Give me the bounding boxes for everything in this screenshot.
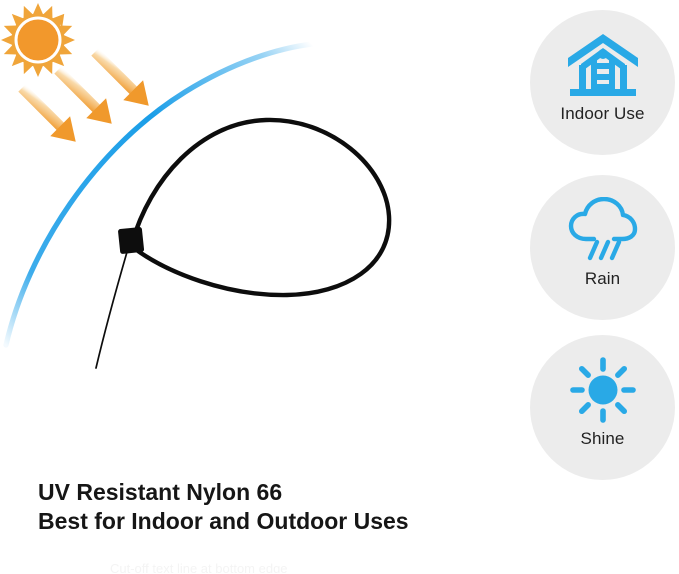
feature-label-rain: Rain [530, 269, 675, 289]
uv-shield-arc [6, 44, 312, 345]
feature-badge-indoor-use[interactable]: Indoor Use [530, 10, 675, 155]
feature-badge-rain[interactable]: Rain [530, 175, 675, 320]
headline-line-1: UV Resistant Nylon 66 [38, 478, 498, 507]
headline-line-2: Best for Indoor and Outdoor Uses [38, 507, 498, 536]
sun-with-rays-icon [1, 3, 75, 77]
rain-cloud-icon [564, 197, 642, 263]
feature-badge-shine[interactable]: Shine [530, 335, 675, 480]
uv-resistant-cable-tie-illustration [0, 0, 470, 460]
house-icon [564, 32, 642, 98]
feature-label-shine: Shine [530, 429, 675, 449]
product-feature-graphic: Indoor Use Rain [0, 0, 679, 574]
sun-shine-icon [564, 357, 642, 423]
feature-label-indoor-use: Indoor Use [530, 104, 675, 124]
cable-tie-loop-icon [96, 120, 389, 368]
headline: UV Resistant Nylon 66 Best for Indoor an… [38, 478, 498, 536]
footer-cutoff-text: Cut-off text line at bottom edge [110, 562, 510, 573]
